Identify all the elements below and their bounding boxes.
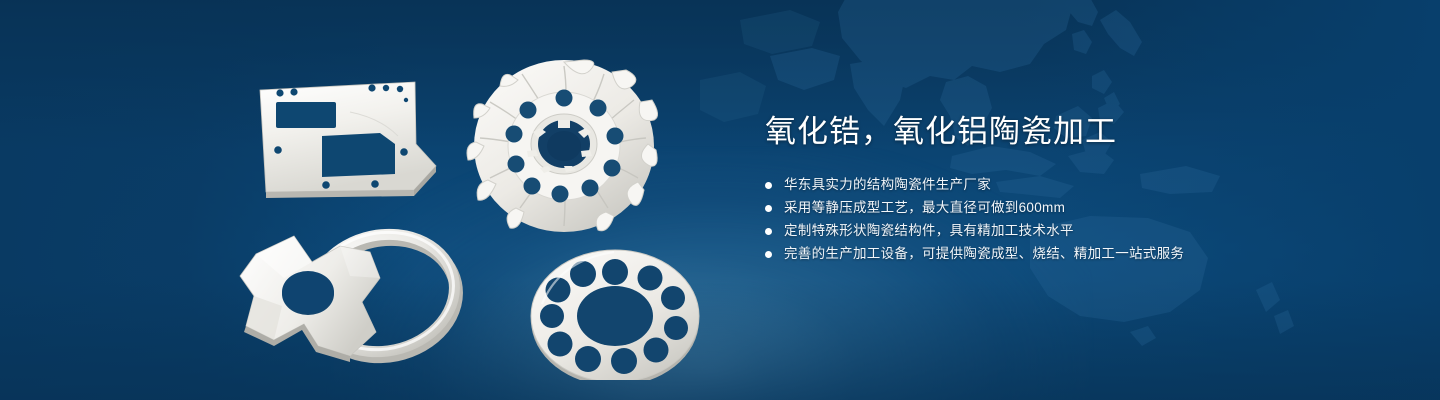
feature-list: 华东具实力的结构陶瓷件生产厂家 采用等静压成型工艺，最大直径可做到600mm 定… <box>765 174 1385 265</box>
product-ceramic-plate <box>258 82 438 198</box>
bullet-dot-icon <box>765 251 772 258</box>
feature-item-label: 华东具实力的结构陶瓷件生产厂家 <box>784 174 991 196</box>
product-ceramic-cross-plate <box>240 236 380 362</box>
feature-item: 华东具实力的结构陶瓷件生产厂家 <box>765 174 1385 196</box>
bullet-dot-icon <box>765 182 772 189</box>
banner-headline: 氧化锆，氧化铝陶瓷加工 <box>765 112 1385 152</box>
ceramic-products-photo <box>230 40 730 380</box>
product-ceramic-hole-disc <box>531 250 699 380</box>
banner-copy: 氧化锆，氧化铝陶瓷加工 华东具实力的结构陶瓷件生产厂家 采用等静压成型工艺，最大… <box>765 112 1385 265</box>
bullet-dot-icon <box>765 205 772 212</box>
feature-item-label: 定制特殊形状陶瓷结构件，具有精加工技术水平 <box>784 220 1074 242</box>
promo-banner: 氧化锆，氧化铝陶瓷加工 华东具实力的结构陶瓷件生产厂家 采用等静压成型工艺，最大… <box>0 0 1440 400</box>
bullet-dot-icon <box>765 228 772 235</box>
feature-item: 完善的生产加工设备，可提供陶瓷成型、烧结、精加工一站式服务 <box>765 243 1385 265</box>
feature-item: 采用等静压成型工艺，最大直径可做到600mm <box>765 197 1385 219</box>
feature-item-label: 采用等静压成型工艺，最大直径可做到600mm <box>784 197 1065 219</box>
feature-item: 定制特殊形状陶瓷结构件，具有精加工技术水平 <box>765 220 1385 242</box>
feature-item-label: 完善的生产加工设备，可提供陶瓷成型、烧结、精加工一站式服务 <box>784 243 1184 265</box>
product-ceramic-impeller <box>467 60 658 232</box>
